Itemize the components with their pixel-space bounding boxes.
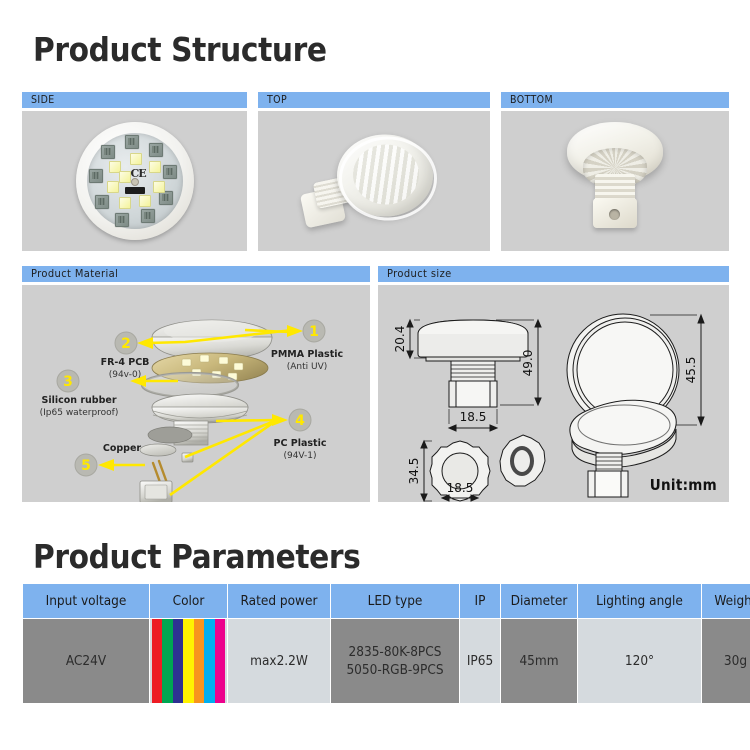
white-led-icon [139, 195, 151, 207]
svg-text:3: 3 [63, 374, 73, 390]
callout-badge-5: 5 [75, 454, 97, 476]
callout-label-4-title: PC Plastic [274, 438, 327, 449]
product-parameters-table: Input voltage Color Rated power LED type… [22, 583, 750, 704]
led-board-photo: CE [76, 122, 194, 240]
dimension-20-4: 20.4 [393, 326, 407, 353]
column-header-ip: IP [460, 584, 501, 619]
panel-label-product-size: Product size [378, 266, 729, 282]
white-led-icon [107, 181, 119, 193]
table-header-row: Input voltage Color Rated power LED type… [23, 584, 750, 619]
page-title-product-structure: Product Structure [33, 30, 327, 69]
svg-text:2: 2 [121, 336, 131, 352]
led-type-line-1: 2835-80K-8PCS [333, 643, 457, 661]
svg-text:1: 1 [309, 324, 319, 340]
product-top-view-photo [309, 129, 439, 234]
panel-label-side: SIDE [22, 92, 247, 108]
cell-weight: 30g [702, 619, 750, 704]
callout-badge-3: 3 [57, 370, 79, 392]
cell-diameter: 45mm [501, 619, 578, 704]
rgb-led-icon [89, 169, 103, 183]
callout-label-1-sub: (Anti UV) [287, 362, 328, 372]
size-diagram-body: 20.4 49.0 18.5 [378, 282, 729, 502]
color-swatch-5 [194, 619, 204, 703]
dimension-45-5: 45.5 [684, 357, 698, 384]
callout-label-2-title: FR-4 PCB [101, 357, 150, 368]
photo-panel-bottom: BOTTOM [501, 92, 729, 251]
pcb-circle: CE [87, 133, 183, 229]
color-swatch-6 [204, 619, 214, 703]
photo-panel-top: TOP [258, 92, 490, 251]
column-header-weight: Weight [702, 584, 750, 619]
led-driver-dot-icon [131, 178, 139, 186]
callout-badge-2: 2 [115, 332, 137, 354]
white-led-icon [130, 153, 142, 165]
rgb-led-icon [115, 213, 129, 227]
rgb-led-icon [101, 145, 115, 159]
white-led-icon [149, 161, 161, 173]
column-header-input-voltage: Input voltage [23, 584, 150, 619]
material-diagram-body: 1 2 3 4 5 PMMA P [22, 282, 370, 502]
dimension-18-5-nut: 18.5 [447, 481, 474, 495]
rgb-led-icon [95, 195, 109, 209]
socket-nut [593, 198, 637, 228]
page-title-product-parameters: Product Parameters [33, 537, 360, 576]
color-swatch-2 [162, 619, 172, 703]
rgb-led-icon [149, 143, 163, 157]
led-type-line-2: 5050-RGB-9PCS [333, 661, 457, 679]
lens-rim [339, 137, 437, 221]
product-bottom-view-photo [555, 118, 675, 238]
rgb-led-icon [125, 135, 139, 149]
photo-panel-top-body [258, 108, 490, 251]
cell-rated-power: max2.2W [228, 619, 331, 704]
photo-panel-side: SIDE [22, 92, 247, 251]
white-led-icon [119, 171, 131, 183]
column-header-color: Color [150, 584, 228, 619]
cell-color-swatches [150, 619, 228, 704]
dimension-49-0: 49.0 [521, 350, 535, 377]
rgb-led-icon [163, 165, 177, 179]
color-swatch-3 [173, 619, 183, 703]
product-spec-page: Product Structure Product Parameters SID… [0, 0, 750, 750]
column-header-diameter: Diameter [501, 584, 578, 619]
color-swatch-1 [152, 619, 162, 703]
callout-label-3-sub: (Ip65 waterproof) [40, 408, 119, 418]
photo-panel-bottom-body [501, 108, 729, 251]
column-header-rated-power: Rated power [228, 584, 331, 619]
dimension-34-5: 34.5 [407, 458, 421, 485]
rgb-led-icon [141, 209, 155, 223]
cell-ip: IP65 [460, 619, 501, 704]
exploded-view-diagram: 1 2 3 4 5 PMMA P [22, 285, 370, 502]
panel-label-bottom: BOTTOM [501, 92, 729, 108]
white-led-icon [153, 181, 165, 193]
callout-label-2-sub: (94v-0) [109, 370, 142, 380]
diagram-panel-material: Product Material [22, 266, 370, 502]
cell-input-voltage: AC24V [23, 619, 150, 704]
color-swatch-4 [183, 619, 193, 703]
color-swatch-strip [152, 619, 225, 703]
callout-badge-4: 4 [289, 409, 311, 431]
cell-lighting-angle: 120° [578, 619, 702, 704]
callout-label-4-sub: (94V-1) [283, 451, 316, 461]
diagram-panel-size: Product size [378, 266, 729, 502]
callout-label-3-title: Silicon rubber [41, 395, 116, 406]
table-row: AC24V max2.2W 2835-80K-8PCS 5050-RGB-9PC… [23, 619, 750, 704]
driver-chip-icon [125, 187, 145, 194]
callout-badge-1: 1 [303, 320, 325, 342]
svg-text:5: 5 [81, 458, 91, 474]
panel-label-product-material: Product Material [22, 266, 370, 282]
color-swatch-7 [215, 619, 225, 703]
column-header-lighting-angle: Lighting angle [578, 584, 702, 619]
panel-label-top: TOP [258, 92, 490, 108]
photo-panel-side-body: CE [22, 108, 247, 251]
cell-led-type: 2835-80K-8PCS 5050-RGB-9PCS [331, 619, 460, 704]
rgb-led-icon [159, 191, 173, 205]
svg-text:4: 4 [295, 413, 305, 429]
callout-label-5-title: Copper [103, 443, 142, 454]
unit-note: Unit:mm [650, 476, 717, 494]
callout-label-1-title: PMMA Plastic [271, 349, 343, 360]
white-led-icon [119, 197, 131, 209]
technical-drawing: 20.4 49.0 18.5 [378, 285, 729, 502]
dimension-18-5-stem: 18.5 [460, 410, 487, 424]
column-header-led-type: LED type [331, 584, 460, 619]
